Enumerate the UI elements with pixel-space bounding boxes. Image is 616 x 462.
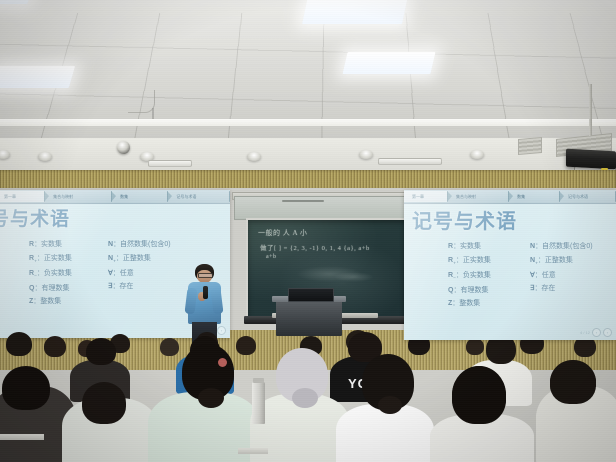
slide-line: N：自然数集(包含0) (108, 238, 171, 252)
ribbon-step: 第一章 (0, 191, 45, 202)
slide-line: N+：正整数集 (530, 254, 593, 269)
slide-line: Q：有理数集 (448, 284, 491, 298)
slide-line: R+：正实数集 (29, 252, 72, 267)
slide-title-left: 号与术语 (0, 204, 70, 231)
slide-line: ∀：任意 (530, 269, 593, 283)
student-head (160, 338, 179, 356)
slide-left-column-right-screen: R：实数集 R+：正实数集 R−：负实数集 Q：有理数集 Z：整数集 (448, 240, 491, 311)
slide-line: N+：正整数集 (108, 252, 171, 267)
slide-line: ∃：存在 (530, 282, 593, 296)
projection-screen-right: 第一章 集合与映射 数集 记号与术语 记号与术语 R：实数集 R+：正实数集 R… (404, 190, 616, 340)
ceiling-strip-diffuser (148, 160, 192, 167)
desk-edge (0, 434, 44, 440)
ceiling-panel-light (0, 66, 75, 88)
slide-line: R：实数集 (448, 240, 491, 254)
chalk-line: 一般的 人 A 小 (258, 228, 307, 238)
projector (566, 149, 616, 170)
ceiling-speaker-icon (117, 141, 130, 154)
student-hair-bun (198, 388, 224, 408)
slide-right-column-left-screen: N：自然数集(包含0) N+：正整数集 ∀：任意 ∃：存在 (108, 238, 171, 294)
chevron-right-icon (229, 191, 230, 202)
ceiling-panel-light (342, 52, 435, 74)
hair-clip-icon (218, 358, 227, 367)
water-bottle-cap (253, 378, 264, 383)
glasses-icon (198, 273, 213, 278)
downlight (359, 150, 373, 159)
student-hair-bun (292, 388, 318, 408)
wall-slat-band-upper (0, 170, 616, 188)
slide-line: N：自然数集(包含0) (530, 240, 593, 254)
slide-line: R：实数集 (29, 238, 72, 252)
student-head (44, 336, 66, 357)
chalk-line: 做了[ ] = {2, 3, -1} 0, 1, 4 {a}, a+b (260, 242, 370, 252)
projector-pole (589, 84, 592, 136)
slide-line: R−：负实数集 (29, 267, 72, 282)
front-row-overlay (404, 330, 616, 462)
soffit-lip (0, 119, 616, 126)
slide-breadcrumb-ribbon-left: 第一章 集合与映射 数集 记号与术语 (0, 190, 230, 204)
slide-line: R−：负实数集 (448, 269, 491, 284)
slide-line: Q：有理数集 (29, 282, 72, 296)
desk-edge (238, 448, 268, 454)
slide-line: Z：整数集 (29, 295, 72, 309)
slide-line: R+：正实数集 (448, 254, 491, 269)
ribbon-step: 第一章 (404, 191, 448, 202)
downlight (470, 150, 484, 159)
slide-line: ∃：存在 (108, 280, 171, 294)
ceiling-cable (128, 90, 155, 113)
ac-vent (518, 137, 542, 155)
student-head (82, 382, 126, 424)
chalk-smudge (334, 272, 374, 282)
microphone[interactable] (203, 286, 208, 299)
student-head (452, 366, 506, 424)
ceiling-strip-diffuser (378, 158, 442, 165)
water-bottle (252, 382, 265, 424)
ribbon-step: 数集 (509, 191, 560, 202)
ribbon-step: 集合与映射 (45, 191, 112, 202)
chalk-line: a+b (266, 254, 277, 260)
slide-line: ∀：任意 (108, 267, 171, 281)
ceiling-panel-light (302, 0, 408, 24)
ribbon-step: 记号与术语 (560, 191, 616, 202)
board-handle[interactable] (282, 200, 324, 202)
student-head (86, 338, 116, 365)
downlight (38, 152, 52, 161)
ribbon-step: 数集 (112, 191, 168, 202)
student-head (550, 360, 596, 404)
lectern-monitor (288, 288, 334, 302)
student-hair-bun (378, 396, 402, 414)
classroom-photo: 第一章 集合与映射 数集 记号与术语 号与术语 R：实数集 R+：正实数集 R−… (0, 0, 616, 462)
student-head (6, 332, 32, 356)
student-head (2, 366, 50, 410)
slide-title-right: 记号与术语 (412, 205, 517, 234)
student-head (236, 336, 256, 355)
slide-left-column-left-screen: R：实数集 R+：正实数集 R−：负实数集 Q：有理数集 Z：整数集 (29, 238, 72, 309)
downlight (247, 152, 261, 161)
slide-line: Z：整数集 (448, 297, 491, 311)
ribbon-step: 记号与术语 (168, 191, 230, 202)
ribbon-step: 集合与映射 (448, 191, 509, 202)
slide-right-column-right-screen: N：自然数集(包含0) N+：正整数集 ∀：任意 ∃：存在 (530, 240, 593, 296)
slide-breadcrumb-ribbon-right: 第一章 集合与映射 数集 记号与术语 (404, 190, 616, 204)
